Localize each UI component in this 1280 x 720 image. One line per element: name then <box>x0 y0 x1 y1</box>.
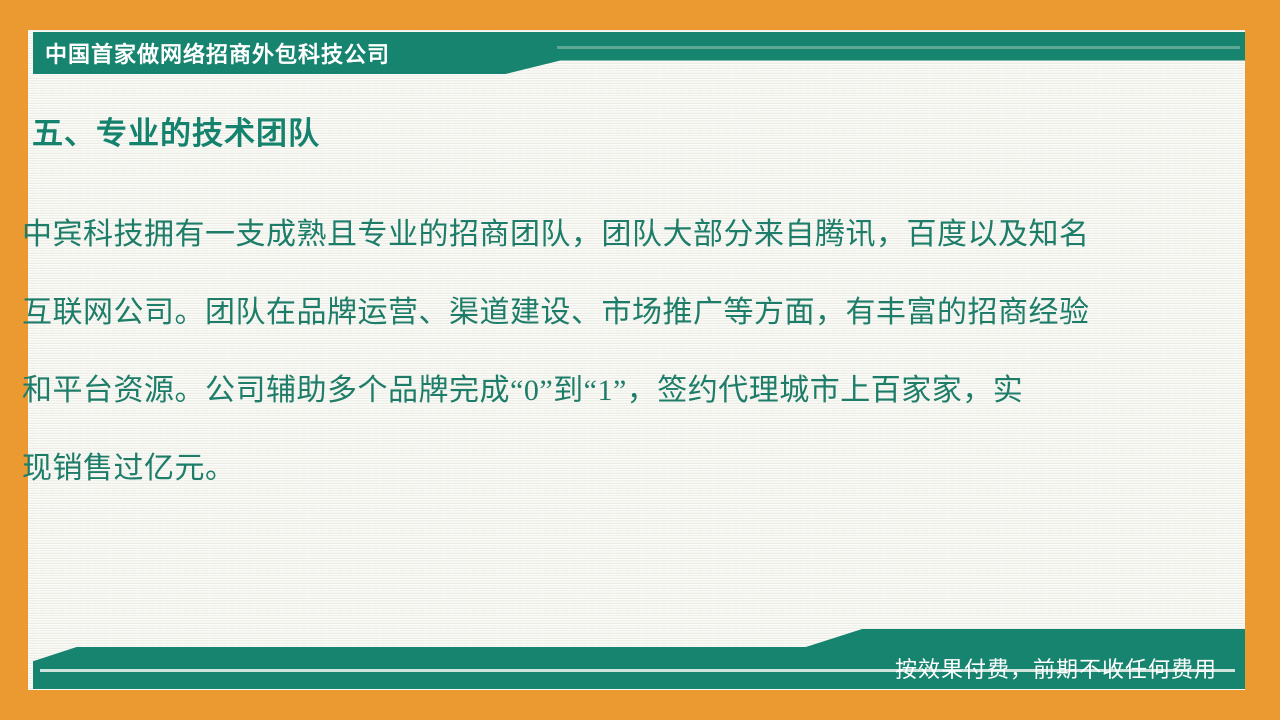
paragraph-line: 互联网公司。团队在品牌运营、渠道建设、市场推广等方面，有丰富的招商经验 <box>22 274 1177 352</box>
content-area: 五、专业的技术团队 中宾科技拥有一支成熟且专业的招商团队，团队大部分来自腾讯，百… <box>0 0 1217 660</box>
paragraph-line: 中宾科技拥有一支成熟且专业的招商团队，团队大部分来自腾讯，百度以及知名 <box>22 196 1177 274</box>
body-paragraph: 中宾科技拥有一支成熟且专业的招商团队，团队大部分来自腾讯，百度以及知名 互联网公… <box>22 196 1177 508</box>
section-title: 五、专业的技术团队 <box>32 108 320 153</box>
footer-band: 按效果付费，前期不收任何费用 <box>33 647 1245 689</box>
header-band: 中国首家做网络招商外包科技公司 <box>33 32 1245 74</box>
footer-tagline: 按效果付费，前期不收任何费用 <box>895 652 1217 684</box>
header-accent-line <box>557 46 1241 49</box>
header-title: 中国首家做网络招商外包科技公司 <box>45 37 390 69</box>
paragraph-line: 现销售过亿元。 <box>22 430 1177 508</box>
paragraph-line: 和平台资源。公司辅助多个品牌完成“0”到“1”，签约代理城市上百家家，实 <box>22 352 1177 430</box>
slide-root: 中国首家做网络招商外包科技公司 五、专业的技术团队 中宾科技拥有一支成熟且专业的… <box>0 0 1280 720</box>
